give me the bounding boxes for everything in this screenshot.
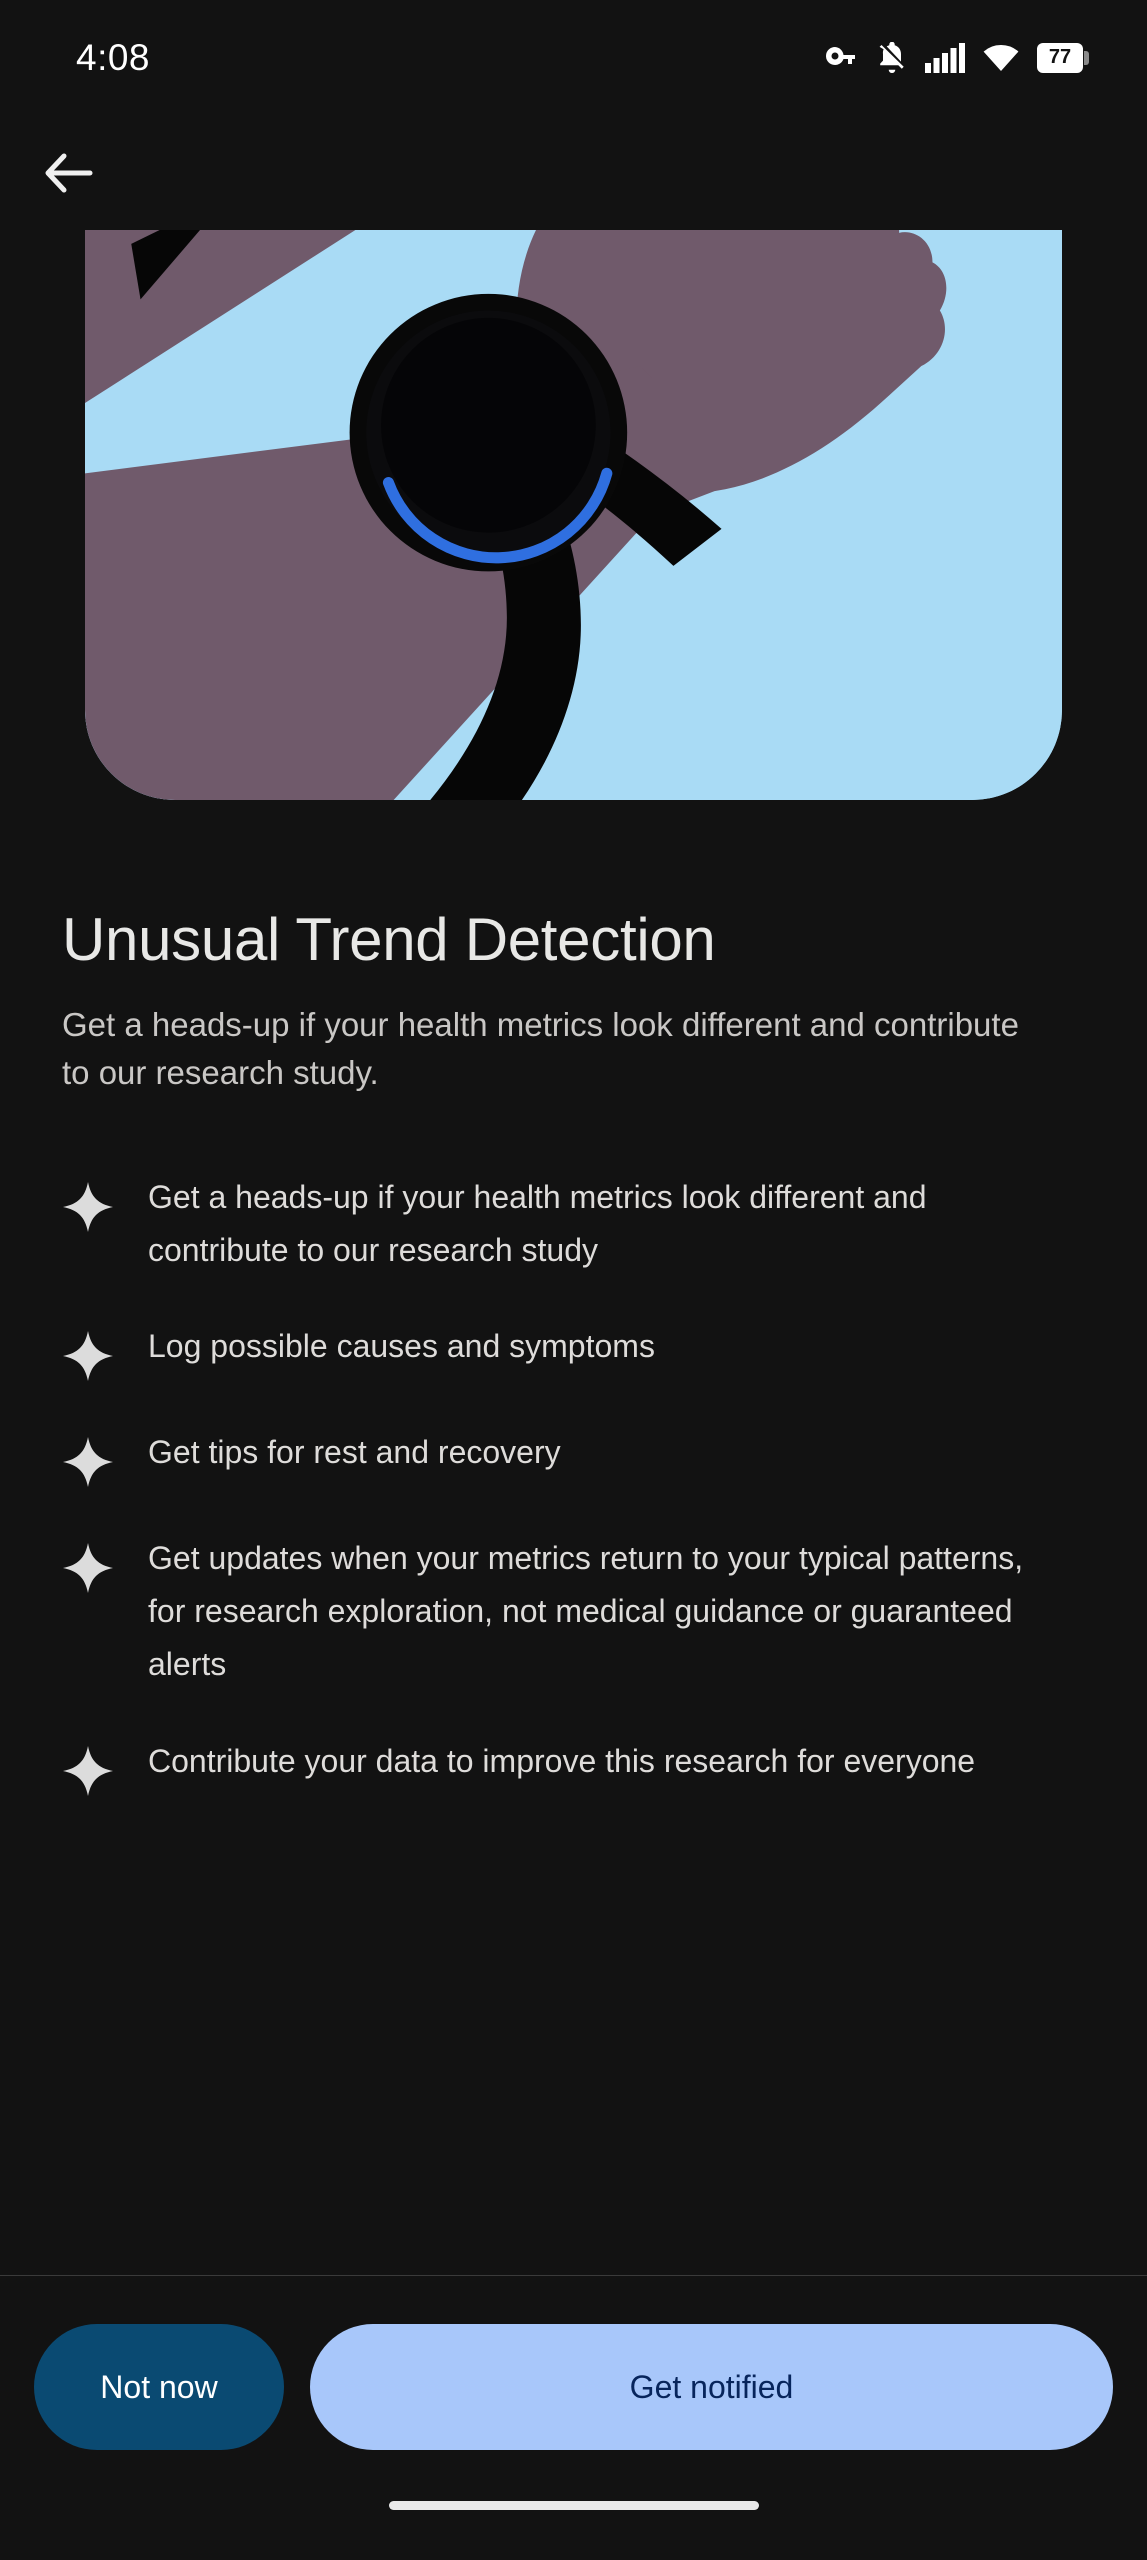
feature-list: Get a heads-up if your health metrics lo… (62, 1171, 1085, 1797)
back-arrow-icon (44, 151, 94, 195)
top-app-bar (0, 115, 1147, 230)
cellular-signal-icon (925, 43, 965, 73)
hero-illustration (85, 230, 1062, 800)
vpn-key-icon (823, 45, 859, 71)
not-now-button[interactable]: Not now (34, 2324, 284, 2450)
list-item-label: Log possible causes and symptoms (148, 1320, 655, 1373)
status-bar-clock: 4:08 (76, 37, 150, 79)
home-gesture-bar[interactable] (389, 2501, 759, 2510)
sparkle-icon (62, 1330, 114, 1382)
hero-image-wrap (0, 230, 1147, 800)
list-item: Get a heads-up if your health metrics lo… (62, 1171, 1085, 1277)
list-item: Get updates when your metrics return to … (62, 1532, 1085, 1690)
get-notified-button[interactable]: Get notified (310, 2324, 1113, 2450)
list-item-label: Contribute your data to improve this res… (148, 1735, 975, 1788)
battery-level-text: 77 (1049, 46, 1071, 69)
notifications-muted-icon (877, 42, 907, 74)
sparkle-icon (62, 1181, 114, 1233)
app-screen: 4:08 (0, 0, 1147, 2560)
page-title: Unusual Trend Detection (62, 906, 1085, 973)
system-navigation-area (0, 2450, 1147, 2560)
bottom-action-bar: Not now Get notified (0, 2275, 1147, 2450)
list-item-label: Get tips for rest and recovery (148, 1426, 561, 1479)
list-item: Get tips for rest and recovery (62, 1426, 1085, 1488)
sparkle-icon (62, 1542, 114, 1594)
list-item: Contribute your data to improve this res… (62, 1735, 1085, 1797)
page-subtitle: Get a heads-up if your health metrics lo… (62, 1001, 1022, 1097)
back-button[interactable] (26, 130, 112, 216)
wifi-icon (983, 44, 1019, 72)
status-bar: 4:08 (0, 0, 1147, 115)
status-bar-icons: 77 (823, 42, 1089, 74)
battery-icon: 77 (1037, 43, 1089, 73)
sparkle-icon (62, 1436, 114, 1488)
list-item: Log possible causes and symptoms (62, 1320, 1085, 1382)
main-content: Unusual Trend Detection Get a heads-up i… (0, 800, 1147, 2275)
list-item-label: Get updates when your metrics return to … (148, 1532, 1048, 1690)
watch-on-wrist-illustration (85, 230, 1062, 800)
list-item-label: Get a heads-up if your health metrics lo… (148, 1171, 1048, 1277)
sparkle-icon (62, 1745, 114, 1797)
